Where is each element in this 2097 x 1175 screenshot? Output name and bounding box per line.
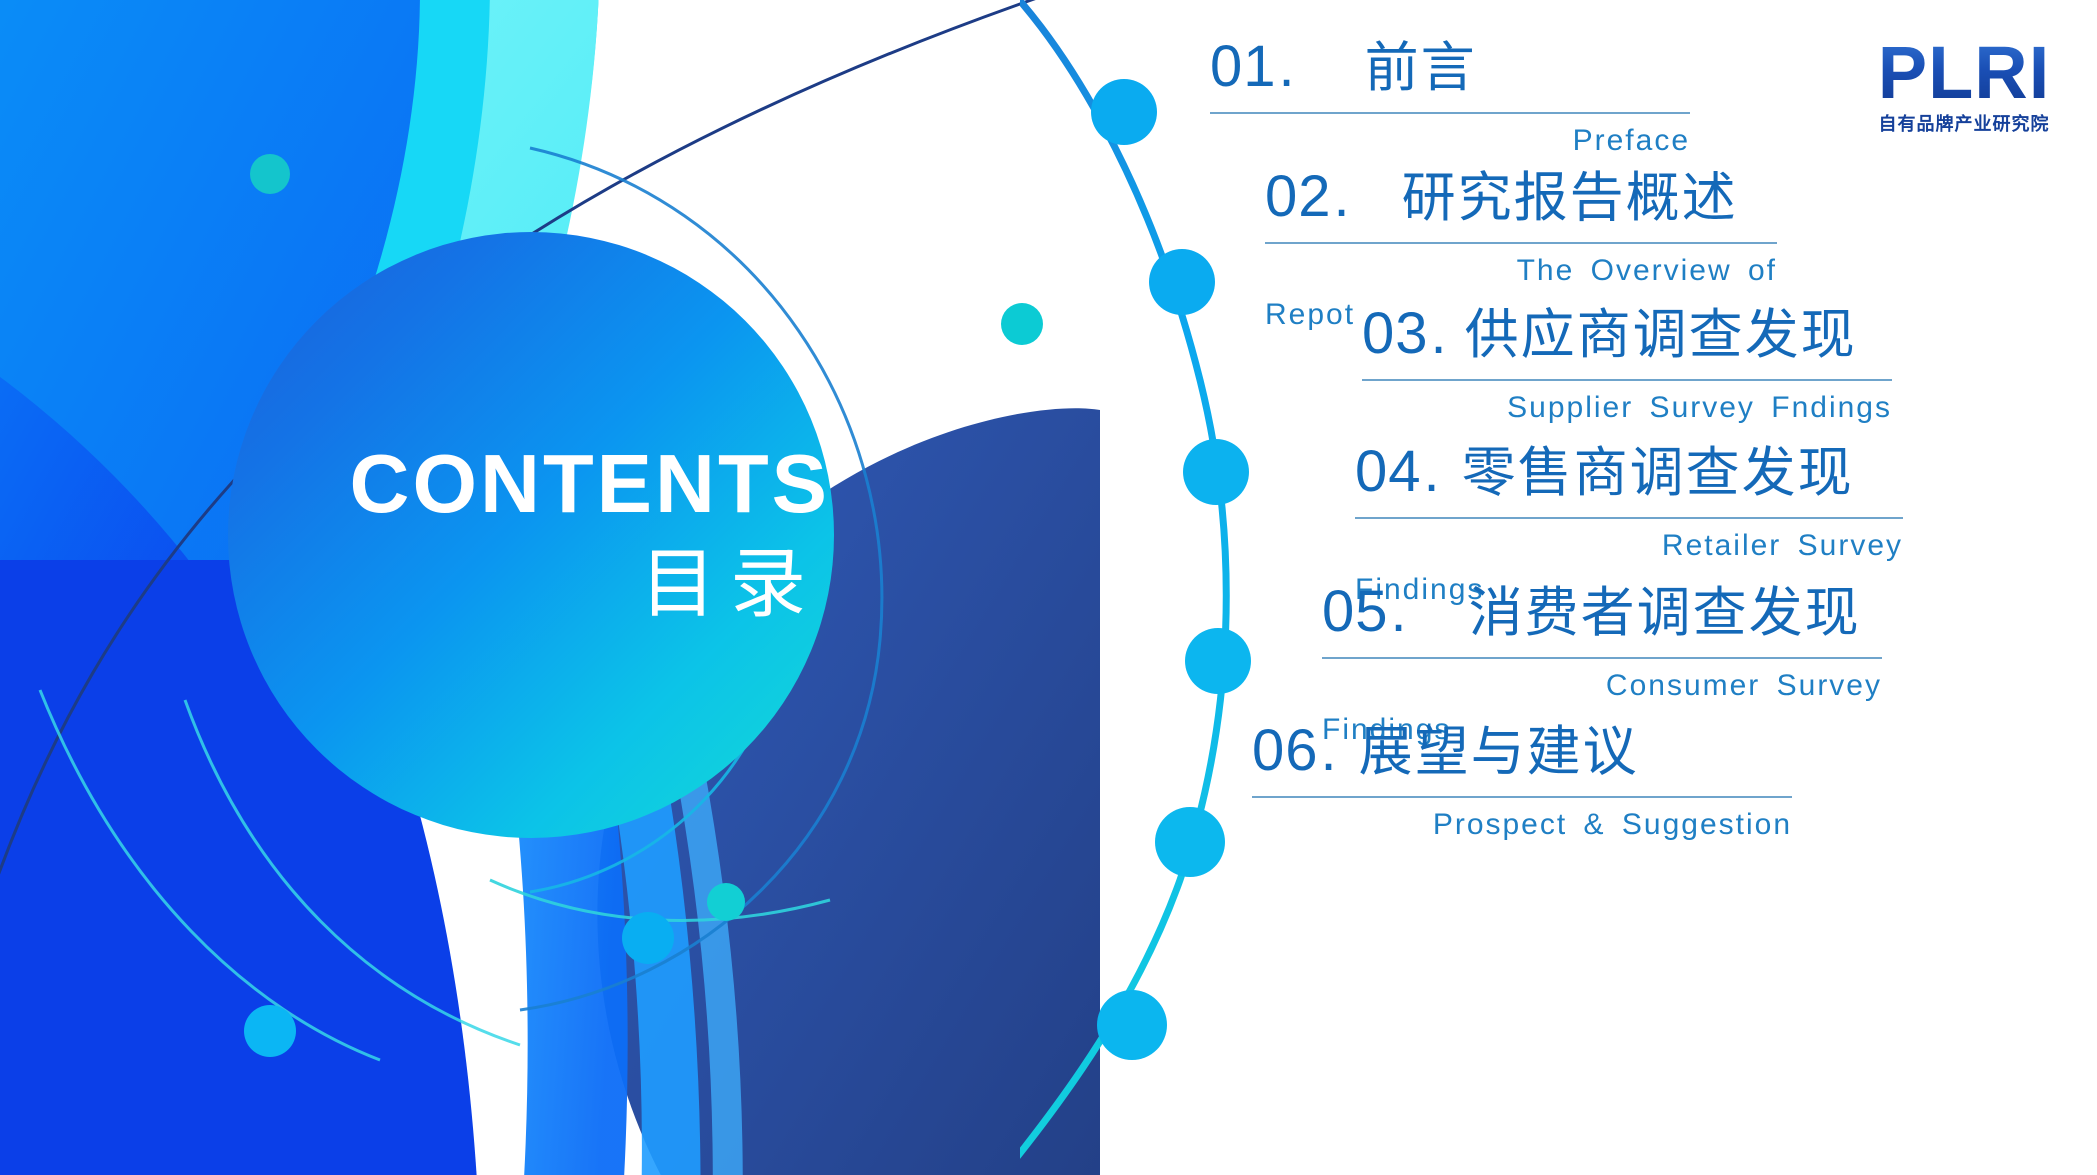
dot-blue-lower: [622, 912, 674, 964]
toc-item-rule: [1265, 242, 1777, 244]
toc-item-title-en: Retailer Survey: [1355, 529, 1903, 563]
toc-item-title-cn: 供应商调查发现: [1465, 308, 1857, 362]
toc-item-separator: .: [1279, 38, 1295, 96]
toc-item-rule: [1362, 379, 1892, 381]
contents-hero-circle: CONTENTS 目录: [228, 232, 834, 838]
dot-cyan-bottom-left: [244, 1005, 296, 1057]
toc-item-separator: .: [1391, 583, 1407, 641]
toc-item-number: 01: [1210, 38, 1277, 96]
page-title: CONTENTS: [350, 442, 831, 525]
dot-teal-lower: [707, 883, 745, 921]
toc-item-title-en: Preface: [1210, 124, 1690, 158]
toc-item-title-en: Prospect & Suggestion: [1252, 808, 1792, 842]
toc-item-separator: .: [1321, 722, 1337, 780]
toc-item-title-en: The Overview of: [1265, 254, 1777, 288]
toc-item-separator: .: [1334, 168, 1350, 226]
toc-item-number: 04: [1355, 443, 1422, 501]
toc-item-separator: .: [1431, 305, 1447, 363]
brand-logo: PLRI 自有品牌产业研究院: [1849, 38, 2079, 136]
spine-bullet-01[interactable]: [1091, 79, 1157, 145]
toc-item-title-en: Supplier Survey Fndings: [1362, 391, 1892, 425]
toc-item-04[interactable]: 04 . 零售商调查发现 Retailer Survey Findings: [1355, 443, 1903, 606]
toc-item-title-cn: 消费者调查发现: [1469, 586, 1861, 640]
toc-item-heading: 02 . 研究报告概述: [1265, 168, 1777, 226]
toc-item-heading: 03 . 供应商调查发现: [1362, 305, 1892, 363]
toc-item-title-en: Consumer Survey: [1322, 669, 1882, 703]
toc-item-heading: 06 . 展望与建议: [1252, 722, 1792, 780]
arc-cyan-node-line: [490, 880, 830, 920]
toc-item-06[interactable]: 06 . 展望与建议 Prospect & Suggestion: [1252, 722, 1792, 842]
toc-item-number: 06: [1252, 722, 1319, 780]
toc-item-heading: 05 . 消费者调查发现: [1322, 583, 1882, 641]
toc-item-title-cn: 研究报告概述: [1402, 171, 1738, 225]
dot-teal-top-left: [250, 154, 290, 194]
logo-subtitle: 自有品牌产业研究院: [1849, 110, 2079, 136]
toc-item-number: 05: [1322, 583, 1389, 641]
toc-item-01[interactable]: 01 . 前言 Preface: [1210, 38, 1690, 158]
slide-root: CONTENTS 目录 01 . 前言 Pref: [0, 0, 2097, 1175]
toc-item-03[interactable]: 03 . 供应商调查发现 Supplier Survey Fndings: [1362, 305, 1892, 425]
toc-item-heading: 04 . 零售商调查发现: [1355, 443, 1903, 501]
toc-item-separator: .: [1424, 443, 1440, 501]
toc-item-heading: 01 . 前言: [1210, 38, 1690, 96]
toc-item-rule: [1355, 517, 1903, 519]
toc-item-title-cn: 展望与建议: [1359, 725, 1639, 779]
toc-item-rule: [1210, 112, 1690, 114]
toc-item-rule: [1252, 796, 1792, 798]
toc-item-title-cn: 零售商调查发现: [1462, 446, 1854, 500]
toc-item-title-cn: 前言: [1365, 41, 1477, 95]
toc-item-number: 02: [1265, 168, 1332, 226]
table-of-contents: 01 . 前言 Preface 02 . 研究报告概述 The Overview…: [1150, 0, 2097, 1175]
page-subtitle: 目录: [640, 541, 820, 628]
logo-wordmark: PLRI: [1849, 38, 2079, 108]
toc-item-number: 03: [1362, 305, 1429, 363]
toc-item-rule: [1322, 657, 1882, 659]
dot-teal-mid: [1001, 303, 1043, 345]
